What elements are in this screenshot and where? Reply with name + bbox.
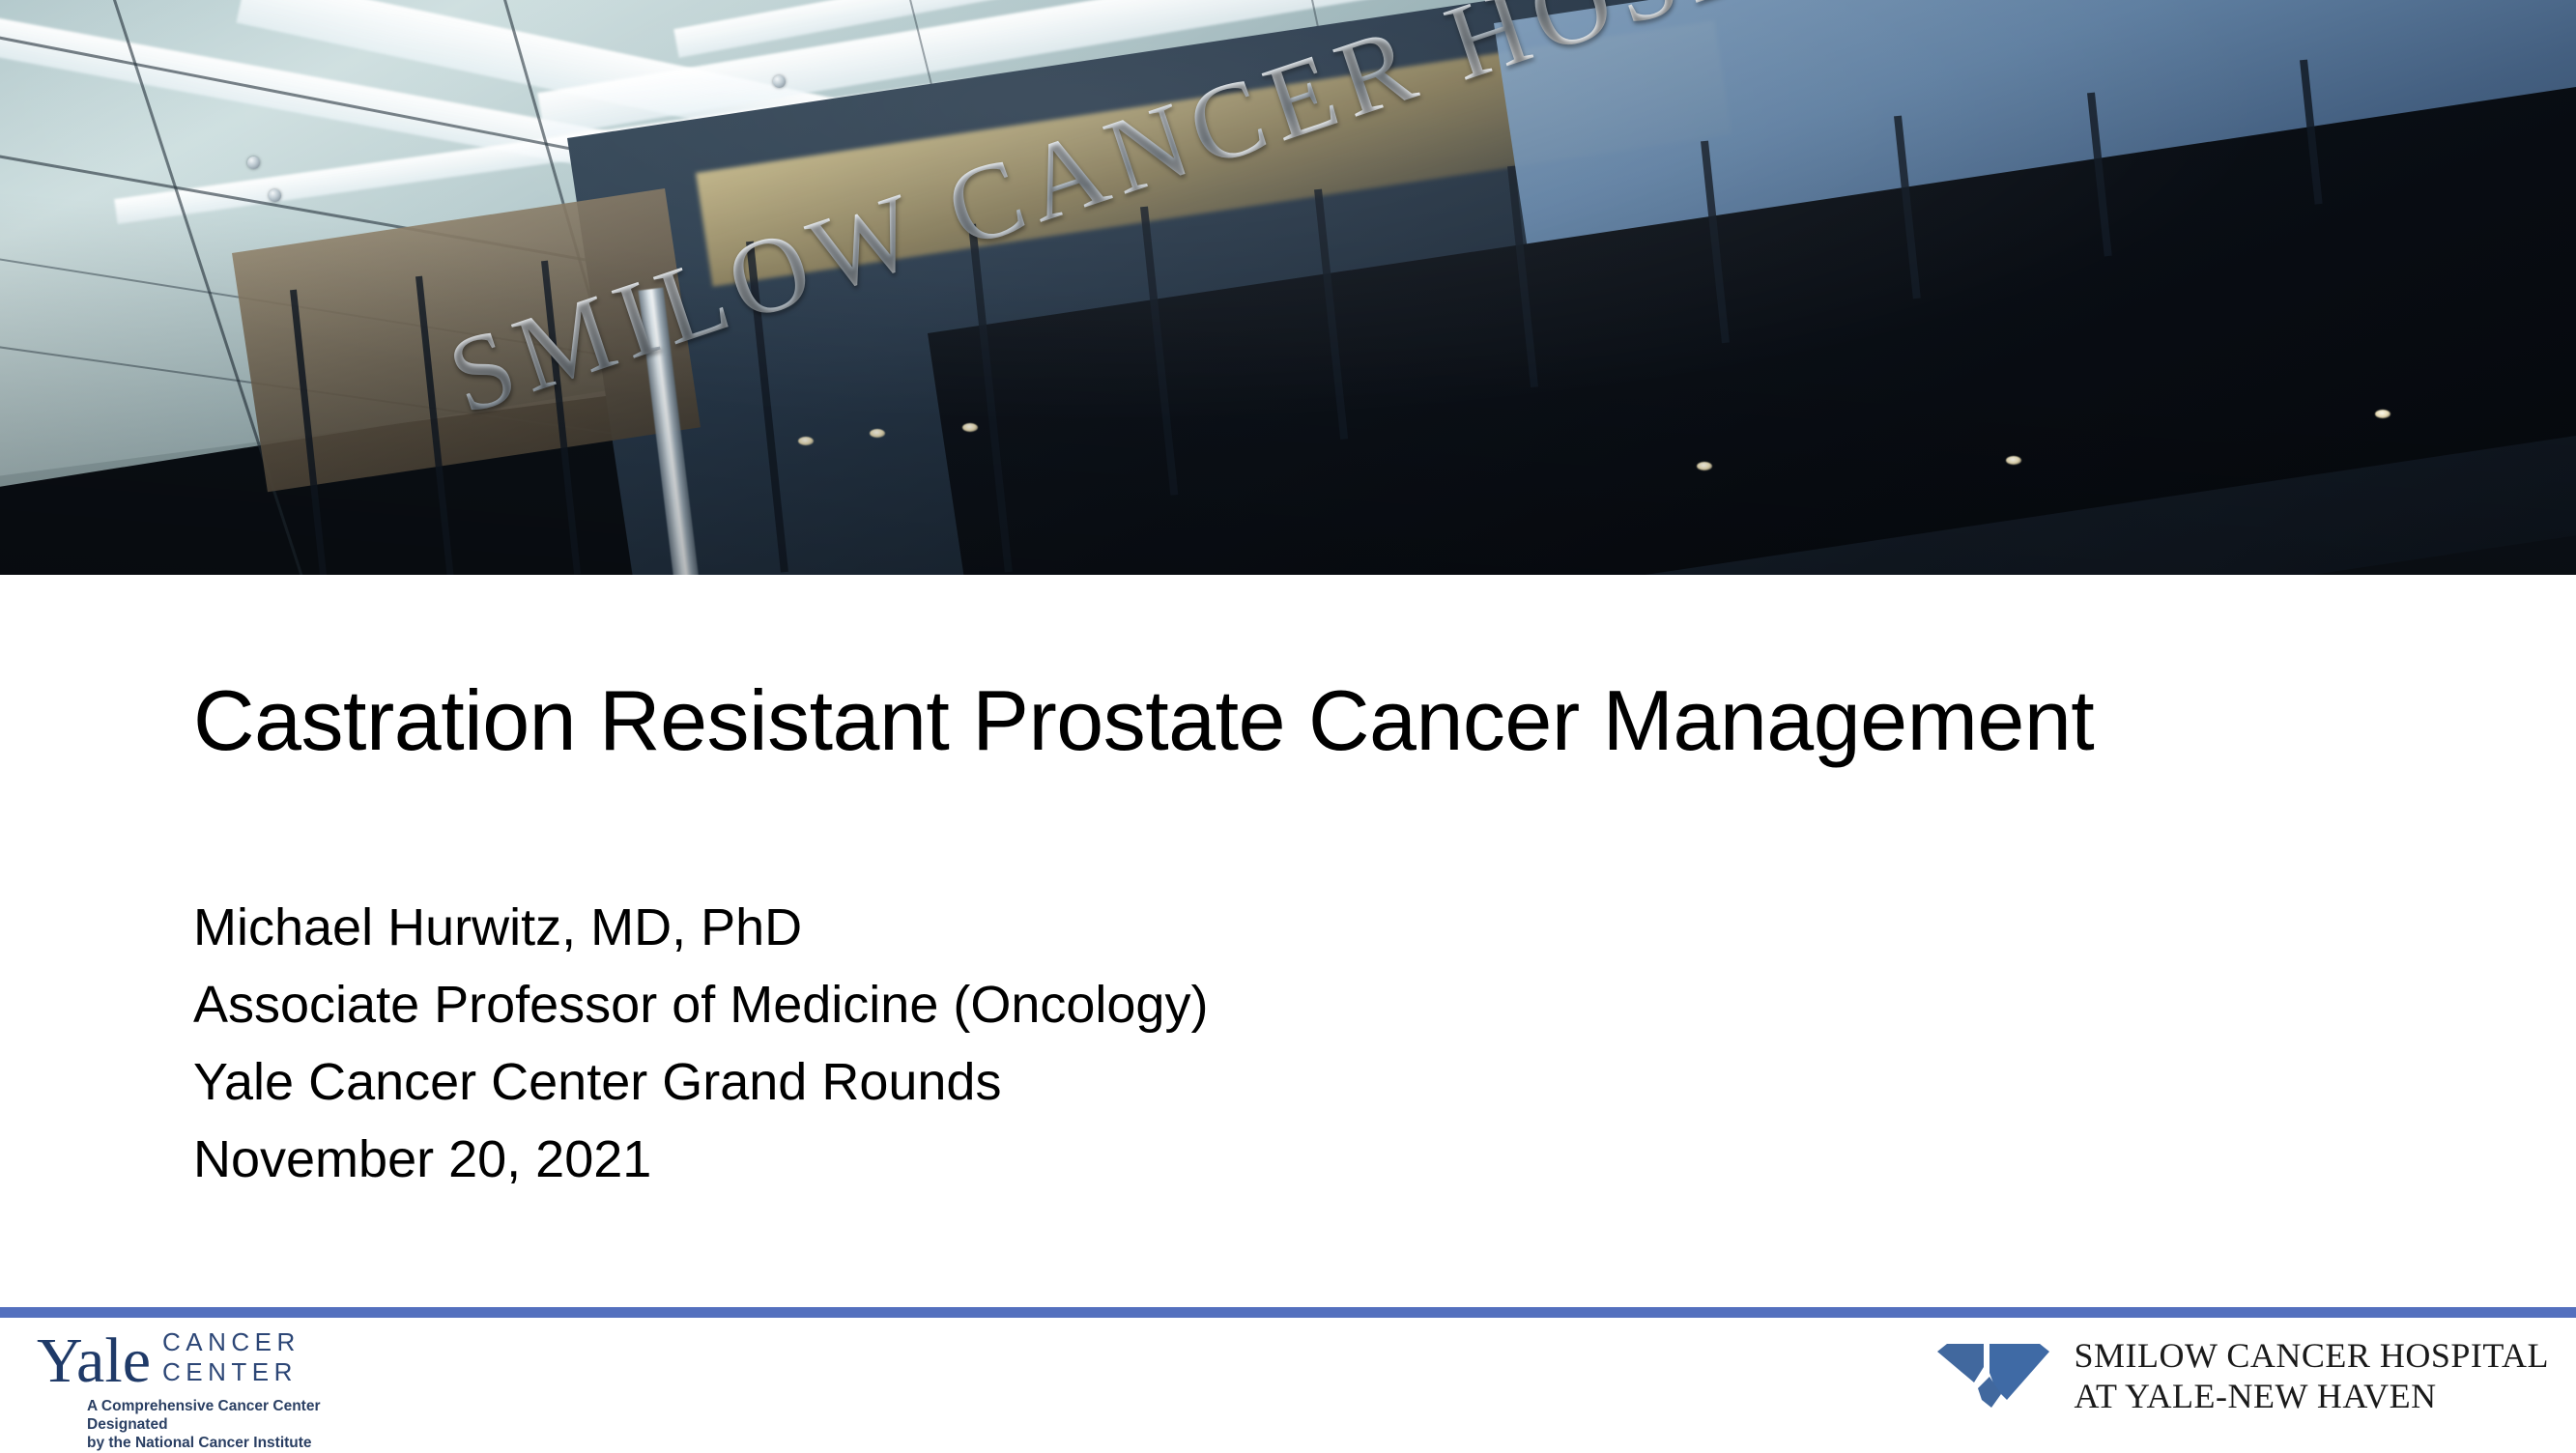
smilow-cancer-hospital-logo: SMILOW CANCER HOSPITAL AT YALE-NEW HAVEN	[1935, 1335, 2549, 1416]
presenter-affiliation: Associate Professor of Medicine (Oncolog…	[193, 966, 1208, 1043]
presentation-date: November 20, 2021	[193, 1121, 1208, 1198]
downlight	[798, 437, 814, 445]
downlight	[962, 423, 978, 432]
footer-divider-rule	[0, 1307, 2576, 1318]
yale-cancer-center-logo: Yale CANCER CENTER A Comprehensive Cance…	[37, 1327, 356, 1441]
yale-logo-center-text: CENTER	[162, 1357, 301, 1387]
smilow-logo-text: SMILOW CANCER HOSPITAL AT YALE-NEW HAVEN	[2075, 1335, 2549, 1416]
spider-fitting	[773, 75, 786, 88]
presenter-details: Michael Hurwitz, MD, PhD Associate Profe…	[193, 889, 1208, 1198]
yale-tagline-line-2: by the National Cancer Institute	[87, 1435, 356, 1453]
slide-title: Castration Resistant Prostate Cancer Man…	[193, 676, 2094, 765]
downlight	[1697, 462, 1712, 470]
yale-tagline-line-1: A Comprehensive Cancer Center Designated	[87, 1398, 356, 1435]
hero-scene: SMILOW CANCER HOSPITAL	[0, 0, 2576, 575]
event-name: Yale Cancer Center Grand Rounds	[193, 1043, 1208, 1121]
yale-logo-lockup: Yale CANCER CENTER	[37, 1327, 356, 1391]
presenter-name: Michael Hurwitz, MD, PhD	[193, 889, 1208, 966]
downlight	[2375, 410, 2390, 418]
spider-fitting	[247, 157, 260, 169]
yale-wordmark: Yale	[37, 1331, 151, 1392]
yale-logo-subwords: CANCER CENTER	[162, 1327, 301, 1391]
spider-fitting	[269, 189, 281, 202]
smilow-logo-line-2: AT YALE-NEW HAVEN	[2075, 1376, 2549, 1416]
slide-content: Castration Resistant Prostate Cancer Man…	[0, 575, 2576, 1307]
hero-image: SMILOW CANCER HOSPITAL	[0, 0, 2576, 575]
downlight	[870, 429, 885, 438]
slide-footer: Yale CANCER CENTER A Comprehensive Cance…	[0, 1318, 2576, 1449]
downlight	[2006, 456, 2021, 465]
yale-logo-tagline: A Comprehensive Cancer Center Designated…	[87, 1398, 356, 1453]
smilow-logo-line-1: SMILOW CANCER HOSPITAL	[2075, 1335, 2549, 1376]
yale-logo-cancer-text: CANCER	[162, 1327, 301, 1357]
smilow-chevron-icon	[1935, 1340, 2053, 1411]
